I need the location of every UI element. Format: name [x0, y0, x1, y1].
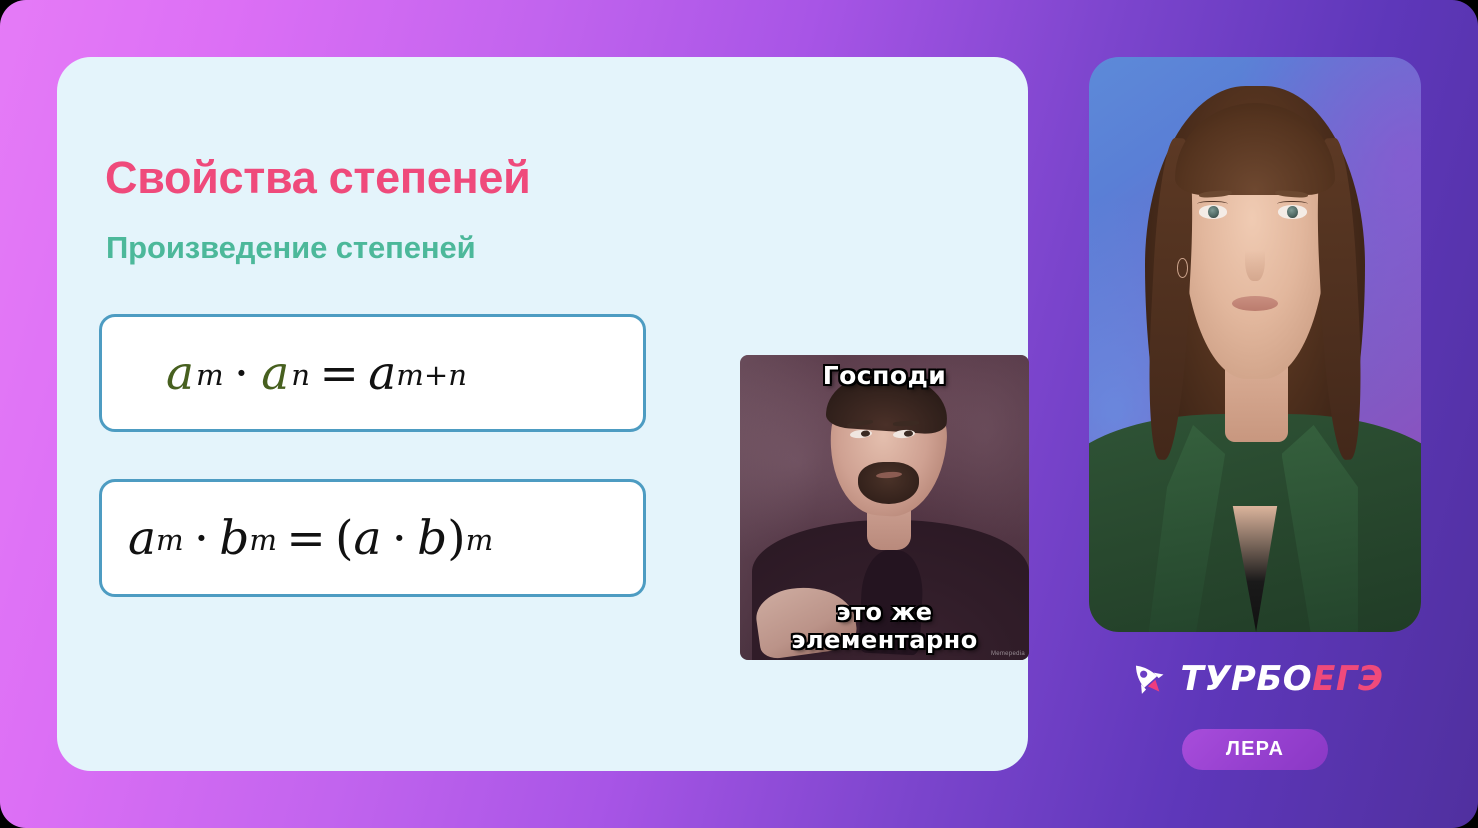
meme-bottom-caption: это же элементарно	[740, 598, 1029, 654]
meme-watermark: Memepedia	[991, 651, 1025, 657]
formula-1-result-base: a	[368, 350, 396, 397]
meme-image: Господи это же элементарно Memepedia	[740, 355, 1029, 660]
formula-1-expression: am·an=am+n	[102, 350, 467, 397]
formula-1-multiply-dot: ·	[224, 350, 260, 397]
formula-1-equals-sign: =	[310, 350, 368, 397]
presenter-name-badge: ЛЕРА	[1182, 729, 1328, 770]
formula-2-base-2: b	[219, 515, 249, 562]
formula-1-base-2: a	[259, 350, 291, 397]
formula-box-product-same-base: am·an=am+n	[99, 314, 646, 432]
presenter-eye-left	[1199, 205, 1228, 218]
formula-2-close-paren: )	[447, 515, 465, 562]
content-card: Свойства степеней Произведение степеней …	[57, 57, 1028, 771]
formula-2-inner-1: a	[354, 515, 382, 562]
formula-box-product-same-exponent: am·bm=(a·b)m	[99, 479, 646, 597]
formula-2-open-paren: (	[335, 515, 353, 562]
logo-wordmark: ТУРБОЕГЭ	[1181, 662, 1384, 696]
presenter-lips	[1232, 296, 1278, 311]
logo-text-turbo: ТУРБО	[1181, 659, 1313, 699]
presenter-eye-right	[1278, 205, 1307, 218]
presenter-nose	[1245, 230, 1265, 282]
meme-eyebrow-right	[893, 420, 919, 426]
formula-2-inner-dot: ·	[382, 515, 418, 562]
formula-2-multiply-dot: ·	[184, 515, 220, 562]
page-subtitle: Произведение степеней	[106, 230, 476, 266]
formula-2-inner-2: b	[417, 515, 447, 562]
formula-2-base-1: a	[128, 515, 156, 562]
presenter-video-panel[interactable]	[1089, 57, 1421, 632]
formula-2-equals-sign: =	[277, 515, 335, 562]
presenter-earring	[1177, 258, 1188, 278]
slide-stage: Свойства степеней Произведение степеней …	[0, 0, 1478, 828]
meme-top-caption: Господи	[740, 361, 1029, 390]
formula-2-expression: am·bm=(a·b)m	[102, 515, 493, 562]
rocket-icon	[1127, 660, 1169, 698]
brand-logo[interactable]: ТУРБОЕГЭ	[1089, 660, 1421, 698]
formula-1-base-1: a	[164, 350, 196, 397]
page-title: Свойства степеней	[105, 152, 530, 204]
logo-text-ege: ЕГЭ	[1312, 659, 1383, 699]
